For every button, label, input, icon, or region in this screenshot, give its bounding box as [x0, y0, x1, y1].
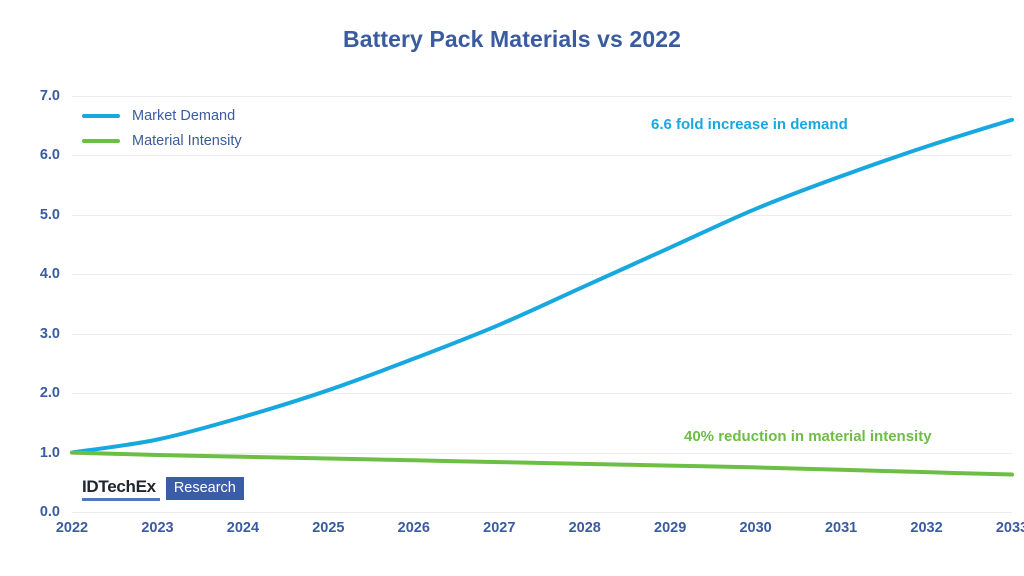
series-layer: [72, 96, 1012, 512]
y-tick-label: 3.0: [16, 326, 60, 342]
legend-swatch-icon: [82, 114, 120, 118]
y-tick-label: 7.0: [16, 88, 60, 104]
x-tick-label: 2033: [996, 520, 1024, 536]
legend-swatch-icon: [82, 139, 120, 143]
annotation-intensity: 40% reduction in material intensity: [684, 428, 932, 445]
x-tick-label: 2028: [569, 520, 601, 536]
x-tick-label: 2027: [483, 520, 515, 536]
series-line-material-intensity: [72, 453, 1012, 475]
y-tick-label: 1.0: [16, 445, 60, 461]
plot-area: [72, 96, 1012, 512]
x-tick-label: 2026: [398, 520, 430, 536]
y-tick-label: 4.0: [16, 266, 60, 282]
x-axis: 2022202320242025202620272028202920302031…: [72, 520, 1012, 550]
y-tick-label: 0.0: [16, 504, 60, 520]
x-tick-label: 2022: [56, 520, 88, 536]
x-tick-label: 2029: [654, 520, 686, 536]
legend-entry[interactable]: Market Demand: [82, 103, 242, 128]
x-tick-label: 2031: [825, 520, 857, 536]
y-axis: 0.01.02.03.04.05.06.07.0: [16, 96, 60, 512]
page-title: Battery Pack Materials vs 2022: [0, 26, 1024, 53]
y-tick-label: 6.0: [16, 147, 60, 163]
legend-label: Material Intensity: [132, 133, 242, 149]
idtechex-logo: IDTechEx Research: [82, 477, 244, 501]
x-tick-label: 2023: [141, 520, 173, 536]
x-tick-label: 2025: [312, 520, 344, 536]
x-tick-label: 2032: [910, 520, 942, 536]
legend: Market DemandMaterial Intensity: [82, 103, 242, 153]
x-tick-label: 2024: [227, 520, 259, 536]
legend-entry[interactable]: Material Intensity: [82, 128, 242, 153]
y-tick-label: 5.0: [16, 207, 60, 223]
logo-research-badge: Research: [166, 477, 244, 500]
logo-wordmark: IDTechEx: [82, 477, 160, 501]
x-tick-label: 2030: [739, 520, 771, 536]
gridline: [72, 512, 1012, 513]
y-tick-label: 2.0: [16, 385, 60, 401]
series-line-market-demand: [72, 120, 1012, 453]
annotation-demand: 6.6 fold increase in demand: [651, 116, 848, 133]
legend-label: Market Demand: [132, 108, 235, 124]
